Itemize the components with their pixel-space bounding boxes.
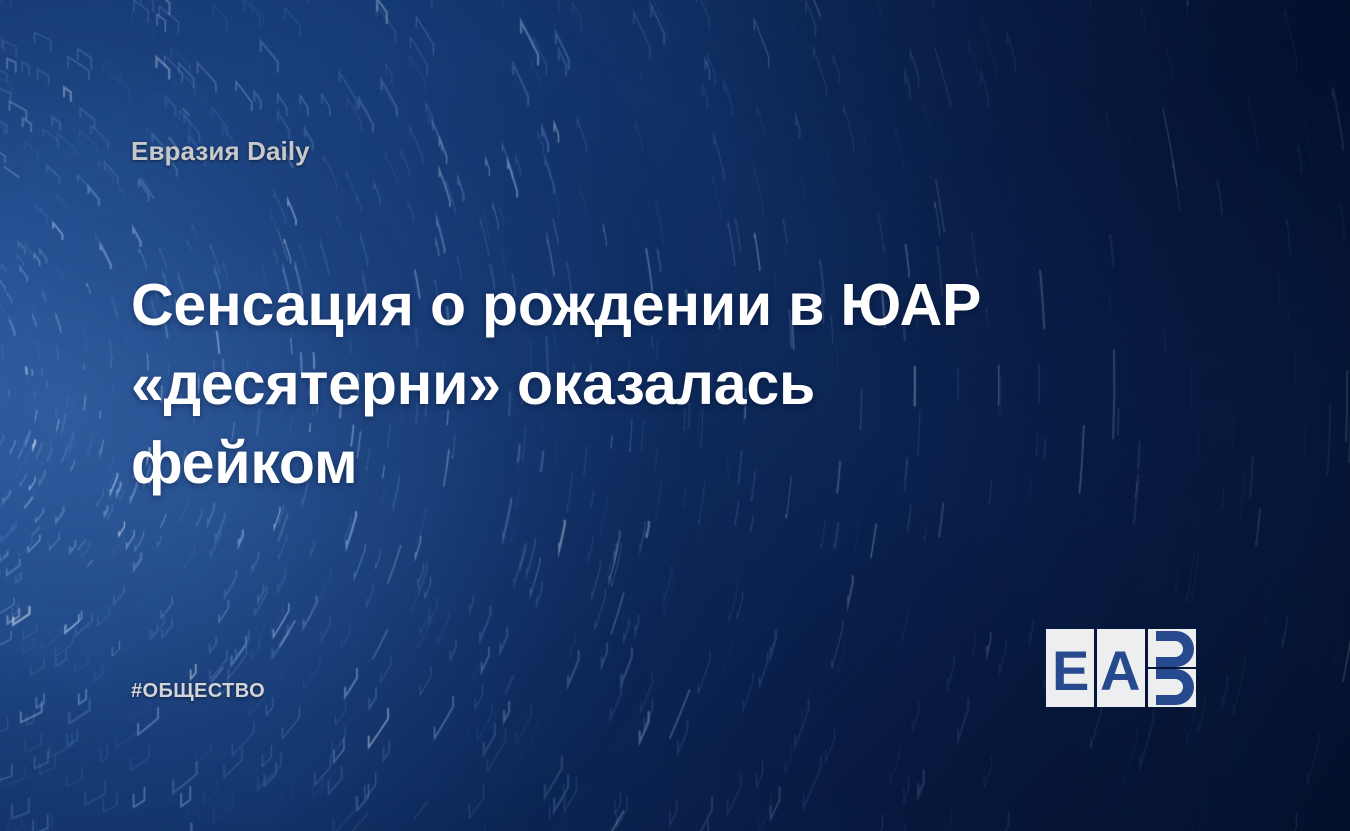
card-content: Евразия Daily Сенсация о рождении в ЮАР …	[0, 0, 1350, 831]
page-title: Сенсация о рождении в ЮАР «десятерни» ок…	[131, 266, 1031, 503]
eadaily-logo: E A	[1046, 629, 1226, 707]
logo-letter-d-upper-icon	[1152, 629, 1204, 667]
logo-letter-d-lower-icon	[1152, 669, 1204, 707]
brand-name: Евразия Daily	[131, 136, 310, 167]
news-share-card: Евразия Daily Сенсация о рождении в ЮАР …	[0, 0, 1350, 831]
category-tag: #ОБЩЕСТВО	[131, 680, 265, 703]
logo-letter-e: E	[1052, 643, 1089, 699]
logo-letter-a: A	[1100, 643, 1140, 699]
